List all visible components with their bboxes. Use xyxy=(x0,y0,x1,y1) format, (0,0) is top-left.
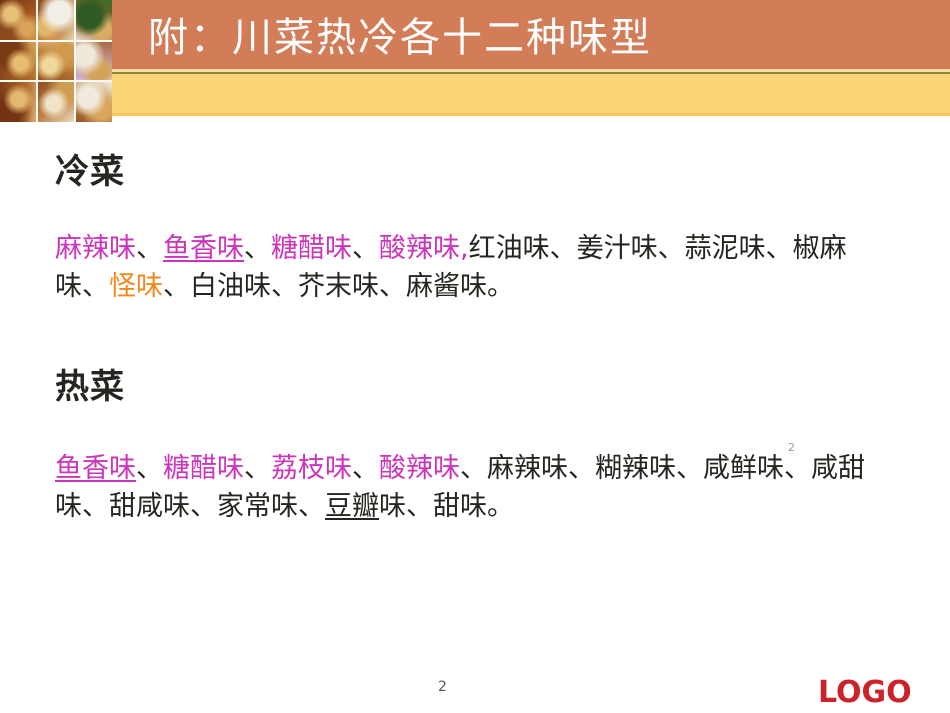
flavor-text-run: 鱼香味 xyxy=(163,233,244,264)
photo-tile-art xyxy=(0,81,37,122)
photo-tile-art xyxy=(75,41,112,82)
presentation-slide: 附：川菜热冷各十二种味型 冷菜 麻辣味、鱼香味、糖醋味、酸辣味,红油味、姜汁味、… xyxy=(0,0,950,713)
flavor-text-run: 酸辣味 xyxy=(379,233,460,264)
photo-tile-6 xyxy=(75,41,112,82)
photo-tile-art xyxy=(37,81,74,122)
photo-tile-3 xyxy=(75,0,112,41)
page-number: 2 xyxy=(438,679,447,695)
flavor-text-run: 荔枝味 xyxy=(271,453,352,484)
flavor-text-run: 鱼香味 xyxy=(55,453,136,484)
photo-tile-4 xyxy=(0,41,37,82)
photo-tile-art xyxy=(75,0,112,41)
cold-dishes-flavor-list: 麻辣味、鱼香味、糖醋味、酸辣味,红油味、姜汁味、蒜泥味、椒麻味、怪味、白油味、芥… xyxy=(55,230,895,306)
photo-grid-line-horizontal xyxy=(0,80,112,82)
header-yellow-band xyxy=(0,74,950,113)
photo-tile-9 xyxy=(75,81,112,122)
page-title: 附：川菜热冷各十二种味型 xyxy=(148,14,652,62)
hot-dishes-heading: 热菜 xyxy=(55,367,125,407)
flavor-text-run: 、 xyxy=(136,233,163,264)
flavor-text-run: 麻辣味 xyxy=(55,233,136,264)
photo-grid-line-vertical xyxy=(74,0,76,122)
flavor-text-run: 怪味 xyxy=(109,271,163,302)
flavor-text-run: 、 xyxy=(244,233,271,264)
braised-dish-photo xyxy=(0,0,112,122)
photo-tile-5 xyxy=(37,41,74,82)
photo-tile-8 xyxy=(37,81,74,122)
photo-tile-art xyxy=(75,81,112,122)
photo-tile-art xyxy=(37,0,74,41)
flavor-text-run: 、 xyxy=(136,453,163,484)
flavor-text-run: 酸辣味 xyxy=(379,453,460,484)
photo-tile-art xyxy=(37,41,74,82)
flavor-text-run: 、白油味、芥末味、麻酱味。 xyxy=(163,271,514,302)
photo-tile-7 xyxy=(0,81,37,122)
hot-dishes-flavor-list: 鱼香味、糖醋味、荔枝味、酸辣味、麻辣味、糊辣味、咸鲜味、咸甜味、甜咸味、家常味、… xyxy=(55,450,895,526)
photo-tile-1 xyxy=(0,0,37,41)
flavor-text-run: , xyxy=(460,233,469,264)
header-yellow-band-shadow xyxy=(0,113,950,116)
flavor-text-run: 、 xyxy=(244,453,271,484)
flavor-text-run: 糖醋味 xyxy=(271,233,352,264)
flavor-text-run: 味、甜味。 xyxy=(379,491,514,522)
flavor-text-run: 、 xyxy=(352,233,379,264)
superscript-annotation: 2 xyxy=(788,442,795,454)
photo-grid-line-vertical xyxy=(36,0,38,122)
photo-tile-art xyxy=(0,0,37,41)
photo-tile-art xyxy=(0,41,37,82)
logo-text: LOGO xyxy=(818,676,912,710)
photo-tile-2 xyxy=(37,0,74,41)
flavor-text-run: 糖醋味 xyxy=(163,453,244,484)
flavor-text-run: 豆瓣 xyxy=(325,491,379,522)
photo-grid-line-horizontal xyxy=(0,40,112,42)
cold-dishes-heading: 冷菜 xyxy=(55,152,125,192)
flavor-text-run: 、 xyxy=(352,453,379,484)
